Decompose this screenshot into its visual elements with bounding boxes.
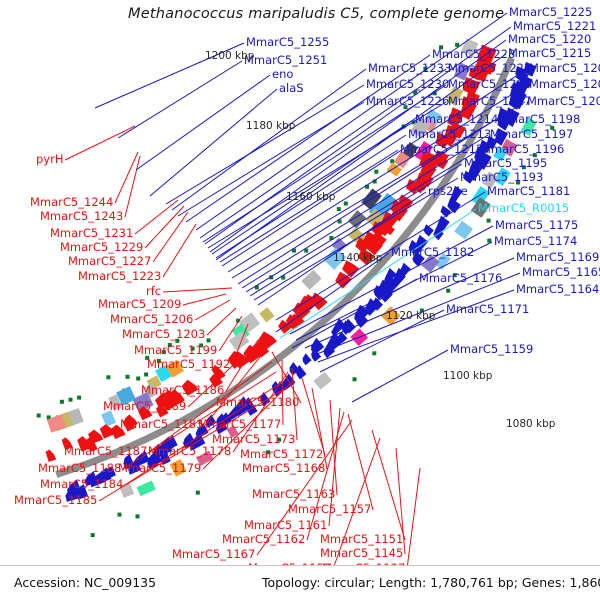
label-leader-line: [118, 61, 242, 138]
label-leader-line: [302, 378, 325, 455]
gene-label-mmarc5-1196[interactable]: MmarC5_1196: [481, 143, 564, 155]
gene-label-mmarc5-1193[interactable]: MmarC5_1193: [460, 171, 543, 183]
gene-label-mmarc5-1217[interactable]: MmarC5_1217: [448, 95, 531, 107]
gene-label-mmarc5-1228[interactable]: MmarC5_1228: [432, 48, 515, 60]
ruler-tick-label: 1100 kbp: [443, 370, 492, 382]
gene-label-mmarc5-1229[interactable]: MmarC5_1229: [60, 241, 143, 253]
status-bar: Accession: NC_009135 Topology: circular;…: [0, 565, 600, 600]
gene-label-mmarc5-1179[interactable]: MmarC5_1179: [118, 462, 201, 474]
ruler-tick-label: 1120 kbp: [386, 310, 435, 322]
label-leader-line: [352, 350, 448, 402]
gene-label-mmarc5-1202[interactable]: MmarC5_1202: [529, 78, 600, 90]
label-leader-line: [195, 300, 230, 320]
trna-tick-mark: [374, 170, 378, 174]
gene-label-mmarc5-1209[interactable]: MmarC5_1209: [98, 298, 181, 310]
gene-label-mmarc5-1162[interactable]: MmarC5_1162: [222, 533, 305, 545]
gene-label-mmarc5-1186[interactable]: MmarC5_1186: [141, 384, 224, 396]
gene-label-mmarc5-1223[interactable]: MmarC5_1223: [78, 270, 161, 282]
gene-label-mmarc5-1183[interactable]: MmarC5_1183: [120, 418, 203, 430]
gene-label-mmarc5-1212[interactable]: MmarC5_1212: [400, 143, 483, 155]
gene-label-mmarc5-1197[interactable]: MmarC5_1197: [490, 128, 573, 140]
gene-label-mmarc5-1159[interactable]: MmarC5_1159: [450, 343, 533, 355]
genome-map-viewer: Methanococcus maripaludis C5, complete g…: [0, 0, 600, 600]
gene-label-mmarc5-1184[interactable]: MmarC5_1184: [40, 478, 123, 490]
gene-label-mmarc5-1200[interactable]: MmarC5_1200: [527, 95, 600, 107]
gene-label-mmarc5-1195[interactable]: MmarC5_1195: [464, 157, 547, 169]
gene-label-mmarc5-1171[interactable]: MmarC5_1171: [446, 303, 529, 315]
label-leader-line: [163, 224, 196, 277]
label-leader-line: [282, 360, 283, 425]
gene-label-mmarc5-1176[interactable]: MmarC5_1176: [419, 272, 502, 284]
label-leader-line: [348, 414, 373, 510]
gene-label-mmarc5-1203[interactable]: MmarC5_1203: [122, 328, 205, 340]
label-leader-line: [166, 85, 364, 204]
gene-label-mmarc5-1189[interactable]: MmarC5_1189: [103, 400, 186, 412]
feature-box[interactable]: [301, 270, 321, 290]
gene-label-mmarc5-1226[interactable]: MmarC5_1226: [366, 95, 449, 107]
trna-tick-mark: [446, 289, 450, 293]
gene-label-mmarc5-1168[interactable]: MmarC5_1168: [242, 462, 325, 474]
gene-label-mmarc5-1151[interactable]: MmarC5_1151: [320, 533, 403, 545]
gene-label-mmarc5-1182[interactable]: MmarC5_1182: [391, 246, 474, 258]
trna-tick-mark: [487, 239, 491, 243]
topology-label: Topology: circular; Length: 1,780,761 bp…: [262, 575, 600, 590]
ruler-tick-label: 1180 kbp: [246, 120, 295, 132]
accession-label: Accession: NC_009135: [14, 575, 156, 590]
gene-label-mmarc5-1165[interactable]: MmarC5_1165: [522, 266, 600, 278]
gene-label-mmarc5-1174[interactable]: MmarC5_1174: [494, 235, 577, 247]
gene-label-mmarc5-1213[interactable]: MmarC5_1213: [408, 128, 491, 140]
gene-label-alas[interactable]: alaS: [279, 82, 304, 94]
gene-label-mmarc5-1199[interactable]: MmarC5_1199: [134, 344, 217, 356]
gene-label-mmarc5-1225[interactable]: MmarC5_1225: [509, 6, 592, 18]
gene-label-mmarc5-1198[interactable]: MmarC5_1198: [497, 113, 580, 125]
gene-label-mmarc5-1243[interactable]: MmarC5_1243: [40, 210, 123, 222]
gene-label-pyrh[interactable]: pyrH: [36, 153, 63, 165]
trna-tick-mark: [196, 491, 200, 495]
trna-tick-mark: [344, 202, 348, 206]
gene-arrow[interactable]: [296, 365, 307, 380]
gene-label-mmarc5-1207[interactable]: MmarC5_1207: [529, 62, 600, 74]
gene-label-eno[interactable]: eno: [272, 68, 293, 80]
gene-label-mmarc5-1178[interactable]: MmarC5_1178: [148, 445, 231, 457]
label-leader-line: [163, 288, 232, 292]
gene-label-mmarc5-1227[interactable]: MmarC5_1227: [68, 255, 151, 267]
gene-label-mmarc5-1177[interactable]: MmarC5_1177: [198, 418, 281, 430]
feature-box[interactable]: [137, 480, 156, 496]
gene-label-mmarc5-1220[interactable]: MmarC5_1220: [508, 33, 591, 45]
label-leader-line: [407, 468, 420, 569]
gene-label-mmarc5-1188[interactable]: MmarC5_1188: [38, 462, 121, 474]
trna-tick-mark: [37, 414, 41, 418]
gene-arrow[interactable]: [100, 424, 115, 438]
gene-label-mmarc5-1222[interactable]: MmarC5_1222: [448, 62, 531, 74]
trna-tick-mark: [144, 373, 148, 377]
gene-label-mmarc5-1180[interactable]: MmarC5_1180: [216, 396, 299, 408]
page-title: Methanococcus maripaludis C5, complete g…: [128, 6, 504, 22]
gene-label-mmarc5-1169[interactable]: MmarC5_1169: [516, 251, 599, 263]
rna-label-mmarc5-r0015[interactable]: MmarC5_R0015: [478, 202, 569, 214]
gene-arrow[interactable]: [303, 353, 312, 365]
gene-label-mmarc5-1219[interactable]: MmarC5_1219: [448, 78, 531, 90]
gene-label-mmarc5-1175[interactable]: MmarC5_1175: [495, 219, 578, 231]
ruler-tick-label: 1140 kbp: [333, 252, 382, 264]
gene-label-mmarc5-1163[interactable]: MmarC5_1163: [252, 488, 335, 500]
trna-tick-mark: [69, 398, 73, 402]
gene-label-mmarc5-1255[interactable]: MmarC5_1255: [246, 36, 329, 48]
label-leader-line: [153, 212, 188, 262]
ruler-tick-label: 1160 kbp: [286, 191, 335, 203]
gene-label-rps24e[interactable]: rps24e: [428, 185, 468, 197]
ruler-tick-label: 1080 kbp: [506, 418, 555, 430]
trna-tick-mark: [353, 377, 357, 381]
trna-tick-mark: [136, 514, 140, 518]
gene-label-mmarc5-1244[interactable]: MmarC5_1244: [30, 196, 113, 208]
gene-label-mmarc5-1231[interactable]: MmarC5_1231: [50, 227, 133, 239]
gene-label-mmarc5-1192[interactable]: MmarC5_1192: [147, 358, 230, 370]
gene-label-mmarc5-1164[interactable]: MmarC5_1164: [516, 283, 599, 295]
gene-label-mmarc5-1161[interactable]: MmarC5_1161: [244, 519, 327, 531]
feature-box[interactable]: [313, 372, 331, 390]
gene-label-mmarc5-1251[interactable]: MmarC5_1251: [244, 54, 327, 66]
gene-label-mmarc5-1215[interactable]: MmarC5_1215: [508, 47, 591, 59]
label-leader-line: [65, 126, 135, 160]
trna-tick-mark: [77, 396, 81, 400]
trna-tick-mark: [118, 513, 122, 517]
trna-tick-mark: [126, 375, 130, 379]
gene-label-mmarc5-1172[interactable]: MmarC5_1172: [240, 448, 323, 460]
trna-tick-mark: [487, 219, 491, 223]
label-leader-line: [183, 294, 226, 305]
feature-box[interactable]: [259, 307, 274, 322]
label-leader-line: [145, 206, 184, 248]
trna-tick-mark: [372, 351, 376, 355]
gene-label-mmarc5-1214[interactable]: MmarC5_1214: [415, 113, 498, 125]
gene-label-mmarc5-1187[interactable]: MmarC5_1187: [64, 445, 147, 457]
trna-tick-mark: [337, 207, 341, 211]
gene-label-mmarc5-1145[interactable]: MmarC5_1145: [320, 547, 403, 559]
trna-tick-mark: [207, 338, 211, 342]
label-leader-line: [135, 200, 178, 234]
gene-label-mmarc5-1221[interactable]: MmarC5_1221: [513, 20, 596, 32]
trna-tick-mark: [106, 375, 110, 379]
trna-tick-mark: [60, 400, 64, 404]
gene-label-mmarc5-1206[interactable]: MmarC5_1206: [110, 313, 193, 325]
gene-label-mmarc5-1157[interactable]: MmarC5_1157: [288, 503, 371, 515]
feature-box[interactable]: [454, 221, 473, 240]
trna-tick-mark: [91, 533, 95, 537]
gene-label-mmarc5-1185[interactable]: MmarC5_1185: [14, 494, 97, 506]
gene-label-mmarc5-1233[interactable]: MmarC5_1233: [368, 62, 451, 74]
gene-label-mmarc5-1181[interactable]: MmarC5_1181: [487, 185, 570, 197]
ruler-tick-label: 1200 kbp: [205, 50, 254, 62]
gene-label-mmarc5-1230[interactable]: MmarC5_1230: [366, 78, 449, 90]
trna-tick-mark: [136, 377, 140, 381]
gene-label-rfc[interactable]: rfc: [146, 285, 161, 297]
gene-label-mmarc5-1167[interactable]: MmarC5_1167: [172, 548, 255, 560]
